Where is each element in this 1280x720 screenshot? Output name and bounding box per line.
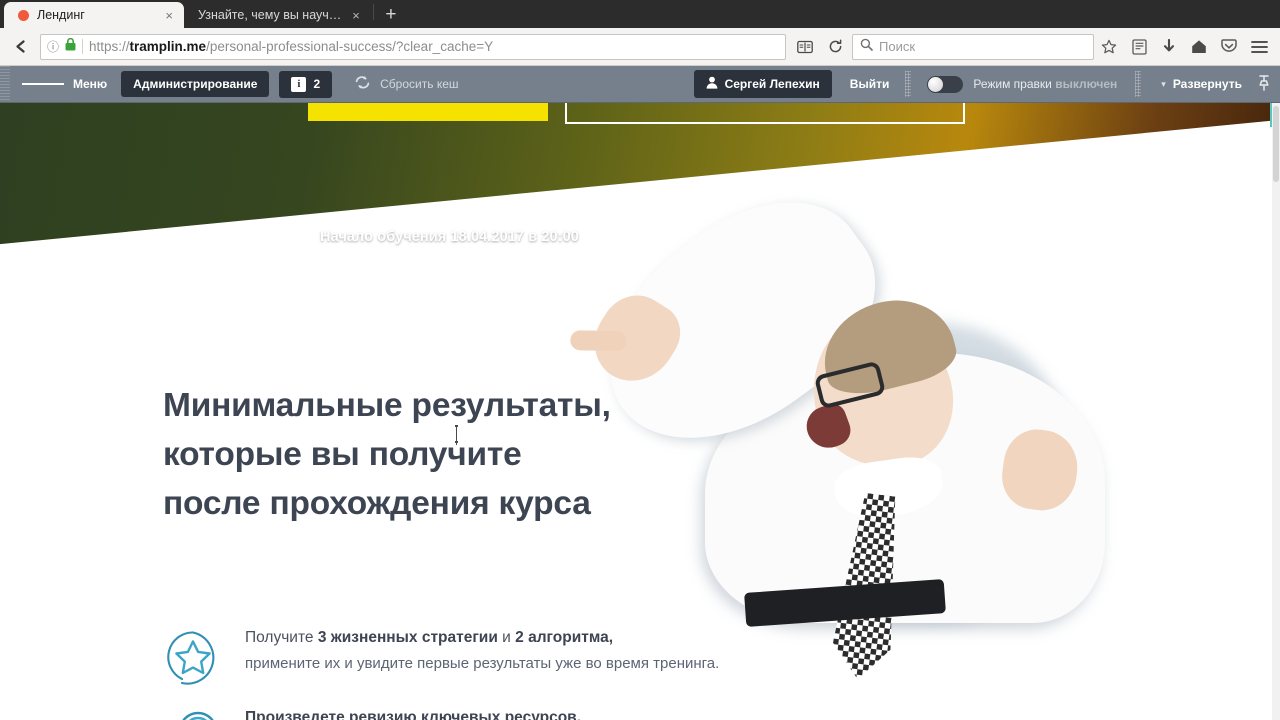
- logout-button[interactable]: Выйти: [850, 77, 890, 91]
- url-divider: [82, 39, 83, 54]
- list-item: Произведете ревизию ключевых ресурсов. У…: [165, 705, 1125, 720]
- expand-label: Развернуть: [1173, 77, 1242, 91]
- lock-icon[interactable]: [65, 38, 76, 56]
- admin-toolbar: Меню Администрирование i 2 Сбросить кеш: [0, 66, 1280, 103]
- page-info-icon[interactable]: ⓘ: [47, 38, 59, 55]
- bookmark-star-icon[interactable]: [1094, 32, 1124, 62]
- notifications-count: 2: [313, 77, 320, 91]
- benefit-title: Получите 3 жизненных стратегии и 2 алгор…: [245, 627, 1125, 649]
- benefit-title: Произведете ревизию ключевых ресурсов.: [245, 707, 1125, 720]
- menu-icon[interactable]: [1244, 32, 1274, 62]
- benefits-list: Получите 3 жизненных стратегии и 2 алгор…: [165, 625, 1125, 720]
- headline-line-3: после прохождения курса: [163, 479, 611, 528]
- pocket-icon[interactable]: [1214, 32, 1244, 62]
- close-icon[interactable]: ×: [349, 9, 363, 22]
- star-circle-icon: [165, 625, 245, 685]
- user-button[interactable]: Сергей Лепехин: [694, 70, 832, 98]
- admin-menu-icon[interactable]: [10, 81, 73, 87]
- photo-pointing-finger: [570, 330, 626, 351]
- toolbar-divider-2: [1135, 71, 1141, 97]
- drag-grip-handle[interactable]: [0, 66, 10, 102]
- edit-mode-toggle[interactable]: [927, 76, 963, 93]
- browser-window: Лендинг × Узнайте, чему вы науч… × + ⓘ: [0, 0, 1280, 720]
- teal-edge-accent: [1270, 103, 1272, 127]
- tab-bar: Лендинг × Узнайте, чему вы науч… × +: [0, 0, 1280, 28]
- user-name: Сергей Лепехин: [725, 77, 820, 91]
- edit-mode-label: Режим правки выключен: [973, 77, 1117, 91]
- reset-cache-label: Сбросить кеш: [380, 77, 458, 91]
- toolbar-divider: [905, 71, 911, 97]
- headline-line-2: которые вы получите: [163, 430, 611, 479]
- address-bar[interactable]: ⓘ https://tramplin.me/personal-professio…: [40, 34, 786, 60]
- page-scrollbar[interactable]: [1272, 103, 1280, 720]
- text-cursor: [455, 425, 458, 443]
- downloads-icon[interactable]: [1154, 32, 1184, 62]
- browser-tab-1[interactable]: Лендинг ×: [4, 2, 184, 28]
- list-item: Получите 3 жизненных стратегии и 2 алгор…: [165, 625, 1125, 685]
- home-icon[interactable]: [1184, 32, 1214, 62]
- benefit-text: Произведете ревизию ключевых ресурсов. У…: [245, 705, 1125, 720]
- user-icon: [706, 76, 718, 92]
- reader-view-icon[interactable]: [790, 32, 820, 62]
- expand-button[interactable]: ▾ Развернуть: [1161, 77, 1242, 91]
- reset-cache-button[interactable]: Сбросить кеш: [354, 75, 458, 93]
- back-button[interactable]: [6, 32, 36, 62]
- close-icon[interactable]: ×: [162, 9, 176, 22]
- headline-line-1: Минимальные результаты,: [163, 381, 611, 430]
- benefit-text: Получите 3 жизненных стратегии и 2 алгор…: [245, 625, 1125, 679]
- hero-highlight-bar: [308, 103, 548, 121]
- url-text: https://tramplin.me/personal-professiona…: [89, 39, 779, 54]
- info-icon: i: [291, 77, 306, 92]
- admin-menu-label[interactable]: Меню: [73, 77, 121, 91]
- tab-favicon-icon: [18, 10, 29, 21]
- tab-title: Лендинг: [37, 8, 154, 22]
- search-icon: [860, 38, 873, 56]
- library-icon[interactable]: [1124, 32, 1154, 62]
- pin-icon[interactable]: [1258, 75, 1270, 94]
- tab-title: Узнайте, чему вы науч…: [198, 8, 341, 22]
- edit-mode-state: выключен: [1055, 77, 1117, 91]
- chevron-down-icon: ▾: [1161, 79, 1166, 90]
- businessman-photo: [585, 198, 1145, 628]
- reload-button[interactable]: [820, 32, 850, 62]
- new-tab-button[interactable]: +: [376, 2, 406, 28]
- browser-tab-2[interactable]: Узнайте, чему вы науч… ×: [184, 2, 371, 28]
- notifications-button[interactable]: i 2: [279, 71, 332, 98]
- benefit-subtitle: примените их и увидите первые результаты…: [245, 649, 1125, 679]
- search-input[interactable]: Поиск: [879, 39, 915, 54]
- hero-outlined-cta-box[interactable]: [565, 103, 965, 124]
- page-content: Начало обучения 18.04.2017 в 20:00 Миним…: [0, 103, 1272, 720]
- refresh-icon: [354, 75, 371, 93]
- search-bar[interactable]: Поиск: [852, 34, 1094, 60]
- magnifier-icon: [165, 705, 245, 720]
- administration-button[interactable]: Администрирование: [121, 71, 269, 97]
- administration-label: Администрирование: [133, 77, 257, 91]
- scrollbar-thumb[interactable]: [1273, 106, 1279, 182]
- course-start-date: Начало обучения 18.04.2017 в 20:00: [320, 229, 579, 245]
- navigation-bar: ⓘ https://tramplin.me/personal-professio…: [0, 28, 1280, 66]
- page-title: Минимальные результаты, которые вы получ…: [163, 381, 611, 528]
- tab-separator: [373, 4, 374, 20]
